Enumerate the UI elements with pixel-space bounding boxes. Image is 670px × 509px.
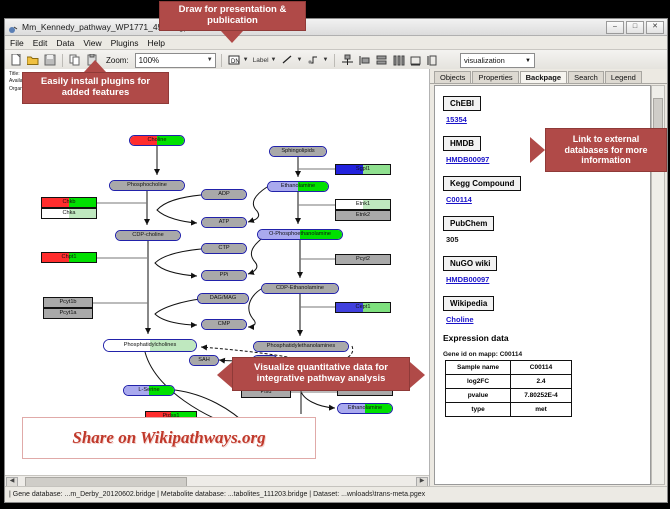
database-link[interactable]: 15354 [446, 115, 642, 124]
node-label: ATP [219, 220, 229, 226]
screenshot-root: Mm_Kennedy_pathway_WP1771_45176.gpml – □… [0, 0, 670, 509]
row-value: 7.80252E-4 [511, 389, 572, 403]
title-bar: Mm_Kennedy_pathway_WP1771_45176.gpml – □… [5, 19, 667, 36]
gene-node-cept1[interactable]: Cept1 [335, 302, 391, 313]
metabolite-node-ctp[interactable]: CTP [201, 243, 247, 254]
zoom-label: Zoom: [106, 56, 129, 65]
chevron-down-icon: ▼ [525, 58, 531, 64]
section-kegg: Kegg Compound C00114 [443, 173, 642, 204]
database-link[interactable]: Choline [446, 315, 642, 324]
row-key: Sample name [446, 361, 511, 375]
expression-table: Sample name C00114 log2FC 2.4 pvalue 7.8… [445, 360, 572, 417]
node-label: Chka [62, 211, 75, 217]
node-label: Phosphatidylethanolamines [267, 344, 335, 350]
node-label: Pcyt1b [59, 300, 76, 306]
chevron-down-icon: ▼ [207, 57, 213, 63]
open-folder-icon[interactable] [26, 53, 40, 67]
label-dropdown-arrow[interactable]: ▼ [271, 57, 277, 63]
menu-data[interactable]: Data [56, 38, 74, 48]
node-label: DAG/MAG [210, 296, 236, 302]
toolbar-separator-1 [62, 54, 63, 67]
callout-plugins: Easily install plugins for added feature… [22, 72, 169, 104]
gene-node-pcyt2[interactable]: Pcyt2 [335, 254, 391, 265]
menu-file[interactable]: File [10, 38, 24, 48]
share-text: Share on Wikipathways.org [72, 428, 265, 448]
node-label: Cept1 [356, 305, 371, 311]
metabolite-node-phosphatidylethanolamines[interactable]: Phosphatidylethanolamines [253, 341, 349, 352]
database-value: 305 [446, 235, 642, 244]
receptor-tool-icon[interactable] [306, 53, 320, 67]
gene-node-sgpl1[interactable]: Sgpl1 [335, 164, 391, 175]
gene-node-chka[interactable]: Chka [41, 208, 97, 219]
metabolite-node-phosphocholine[interactable]: Phosphocholine [109, 180, 185, 191]
row-key: pvalue [446, 389, 511, 403]
save-icon[interactable] [43, 53, 57, 67]
zoom-combobox[interactable]: 100% ▼ [135, 53, 216, 68]
tab-properties[interactable]: Properties [472, 71, 518, 83]
metabolite-node-cdp-ethanolamine[interactable]: CDP-Ethanolamine [261, 283, 339, 294]
row-value: 2.4 [511, 375, 572, 389]
receptor-dropdown-arrow[interactable]: ▼ [322, 57, 328, 63]
node-label: Etnk2 [356, 213, 370, 219]
node-label: Pcyt2 [356, 257, 370, 263]
table-row: type met [446, 403, 572, 417]
gene-node-etnk2[interactable]: Etnk2 [335, 210, 391, 221]
menu-help[interactable]: Help [148, 38, 165, 48]
section-title: Wikipedia [443, 296, 494, 311]
gene-node-pcyt1a[interactable]: Pcyt1a [43, 308, 93, 319]
toolbar-separator-2 [221, 54, 222, 67]
metabolite-node-cmp[interactable]: CMP [201, 319, 247, 330]
section-title: ChEBI [443, 96, 481, 111]
table-row: pvalue 7.80252E-4 [446, 389, 572, 403]
callout-quantitative-arrow-right [410, 362, 425, 388]
node-label: Ethanolamine [281, 184, 315, 190]
datanode-icon[interactable]: DN [227, 53, 241, 67]
metabolite-node-sah[interactable]: SAH [189, 355, 219, 366]
visualization-value: visualization [464, 56, 505, 65]
node-label: Etnk1 [356, 202, 370, 208]
row-value: met [511, 403, 572, 417]
align-left-icon[interactable] [357, 53, 371, 67]
tab-objects[interactable]: Objects [434, 71, 471, 83]
metabolite-node-ethanolamine-bot[interactable]: Ethanolamine [337, 403, 393, 414]
callout-external-db: Link to external databases for more info… [545, 128, 667, 172]
menu-view[interactable]: View [83, 38, 101, 48]
close-button[interactable]: ✕ [646, 21, 664, 34]
status-text: | Gene database: ...m_Derby_20120602.bri… [5, 491, 425, 498]
callout-plugins-arrow [84, 60, 106, 72]
metabolite-node-choline[interactable]: Choline [129, 135, 185, 146]
section-title: PubChem [443, 216, 494, 231]
menu-plugins[interactable]: Plugins [111, 38, 139, 48]
metabolite-node-dagmag[interactable]: DAG/MAG [197, 293, 249, 304]
metabolite-node-ppi[interactable]: PPi [201, 270, 247, 281]
common-height-icon[interactable] [425, 53, 439, 67]
metabolite-node-phosphatidylcholines[interactable]: Phosphatidylcholines [103, 339, 197, 352]
datanode-dropdown-arrow[interactable]: ▼ [243, 57, 249, 63]
metabolite-node-ethanolamine-top[interactable]: Ethanolamine [267, 181, 329, 192]
line-tool-icon[interactable] [280, 53, 294, 67]
metabolite-node-cdp-choline[interactable]: CDP-choline [115, 230, 181, 241]
node-label: Choline [148, 138, 167, 144]
window-buttons: – □ ✕ [606, 21, 664, 34]
menu-bar: File Edit Data View Plugins Help [5, 36, 667, 50]
section-title: HMDB [443, 136, 481, 151]
row-key: log2FC [446, 375, 511, 389]
metabolite-node-atp[interactable]: ATP [201, 217, 247, 228]
sidebar-tabs: Objects Properties Backpage Search Legen… [430, 69, 667, 84]
zoom-value: 100% [139, 56, 159, 65]
gene-node-chpt1[interactable]: Chpt1 [41, 252, 97, 263]
metabolite-node-adp[interactable]: ADP [201, 189, 247, 200]
section-chebi: ChEBI 15354 [443, 93, 642, 124]
maximize-button[interactable]: □ [626, 21, 644, 34]
common-width-icon[interactable] [408, 53, 422, 67]
node-label: Sphingolipids [281, 149, 314, 155]
database-link[interactable]: C00114 [446, 195, 642, 204]
row-key: type [446, 403, 511, 417]
node-label: SAH [198, 358, 210, 364]
table-row: Sample name C00114 [446, 361, 572, 375]
gene-node-chkb[interactable]: Chkb [41, 197, 97, 208]
tab-backpage[interactable]: Backpage [520, 71, 567, 83]
gene-node-pcyt1b[interactable]: Pcyt1b [43, 297, 93, 308]
callout-quantitative-arrow-left [217, 362, 232, 388]
stack-icon[interactable] [374, 53, 388, 67]
line-dropdown-arrow[interactable]: ▼ [296, 57, 302, 63]
align-center-icon[interactable] [340, 53, 354, 67]
gene-id-line: Gene id on mapp: C00114 [443, 351, 642, 358]
node-label: Sgpl1 [356, 167, 370, 173]
app-icon [8, 22, 18, 32]
node-label: Phosphocholine [127, 183, 167, 189]
node-label: Chkb [62, 200, 75, 206]
node-label: Chpt1 [62, 255, 77, 261]
label-tool[interactable]: Label [253, 57, 269, 64]
node-label: Phosphatidylcholines [124, 343, 177, 349]
callout-draw: Draw for presentation & publication [159, 1, 306, 31]
table-row: log2FC 2.4 [446, 375, 572, 389]
node-label: Ethanolamine [348, 406, 382, 412]
callout-quantitative: Visualize quantitative data for integrat… [232, 357, 410, 391]
section-nugo: NuGO wiki HMDB00097 [443, 253, 642, 284]
new-file-icon[interactable] [9, 53, 23, 67]
callout-share: Share on Wikipathways.org [22, 417, 316, 459]
copy-icon[interactable] [68, 53, 82, 67]
metabolite-node-o-phosphoethanolamine[interactable]: O-Phosphoethanolamine [257, 229, 343, 240]
node-label: CMP [218, 322, 230, 328]
visualization-combobox[interactable]: visualization ▼ [460, 53, 535, 68]
metabolite-node-sphingolipids[interactable]: Sphingolipids [269, 146, 327, 157]
section-pubchem: PubChem 305 [443, 213, 642, 244]
row-value: C00114 [511, 361, 572, 375]
tab-legend[interactable]: Legend [605, 71, 642, 83]
svg-text:DN: DN [231, 59, 240, 65]
status-bar: | Gene database: ...m_Derby_20120602.bri… [5, 486, 667, 502]
node-label: Pcyt1a [59, 311, 76, 317]
node-label: CTP [218, 246, 229, 252]
node-label: CDP-choline [132, 233, 163, 239]
tab-search[interactable]: Search [568, 71, 604, 83]
node-label: PPi [220, 273, 229, 279]
callout-external-db-arrow [530, 137, 545, 163]
node-label: ADP [218, 192, 230, 198]
expression-data-heading: Expression data [443, 333, 642, 343]
node-label: L-Serine [138, 388, 159, 394]
section-title: NuGO wiki [443, 256, 497, 271]
node-label: O-Phosphoethanolamine [269, 232, 331, 238]
node-label: CDP-Ethanolamine [276, 286, 324, 292]
section-title: Kegg Compound [443, 176, 521, 191]
distribute-icon[interactable] [391, 53, 405, 67]
gene-node-etnk1[interactable]: Etnk1 [335, 199, 391, 210]
metabolite-node-l-serine-left[interactable]: L-Serine [123, 385, 175, 396]
minimize-button[interactable]: – [606, 21, 624, 34]
toolbar-separator-3 [334, 54, 335, 67]
callout-draw-arrow [221, 31, 243, 43]
database-link[interactable]: HMDB00097 [446, 275, 642, 284]
section-wikipedia: Wikipedia Choline [443, 293, 642, 324]
menu-edit[interactable]: Edit [33, 38, 48, 48]
